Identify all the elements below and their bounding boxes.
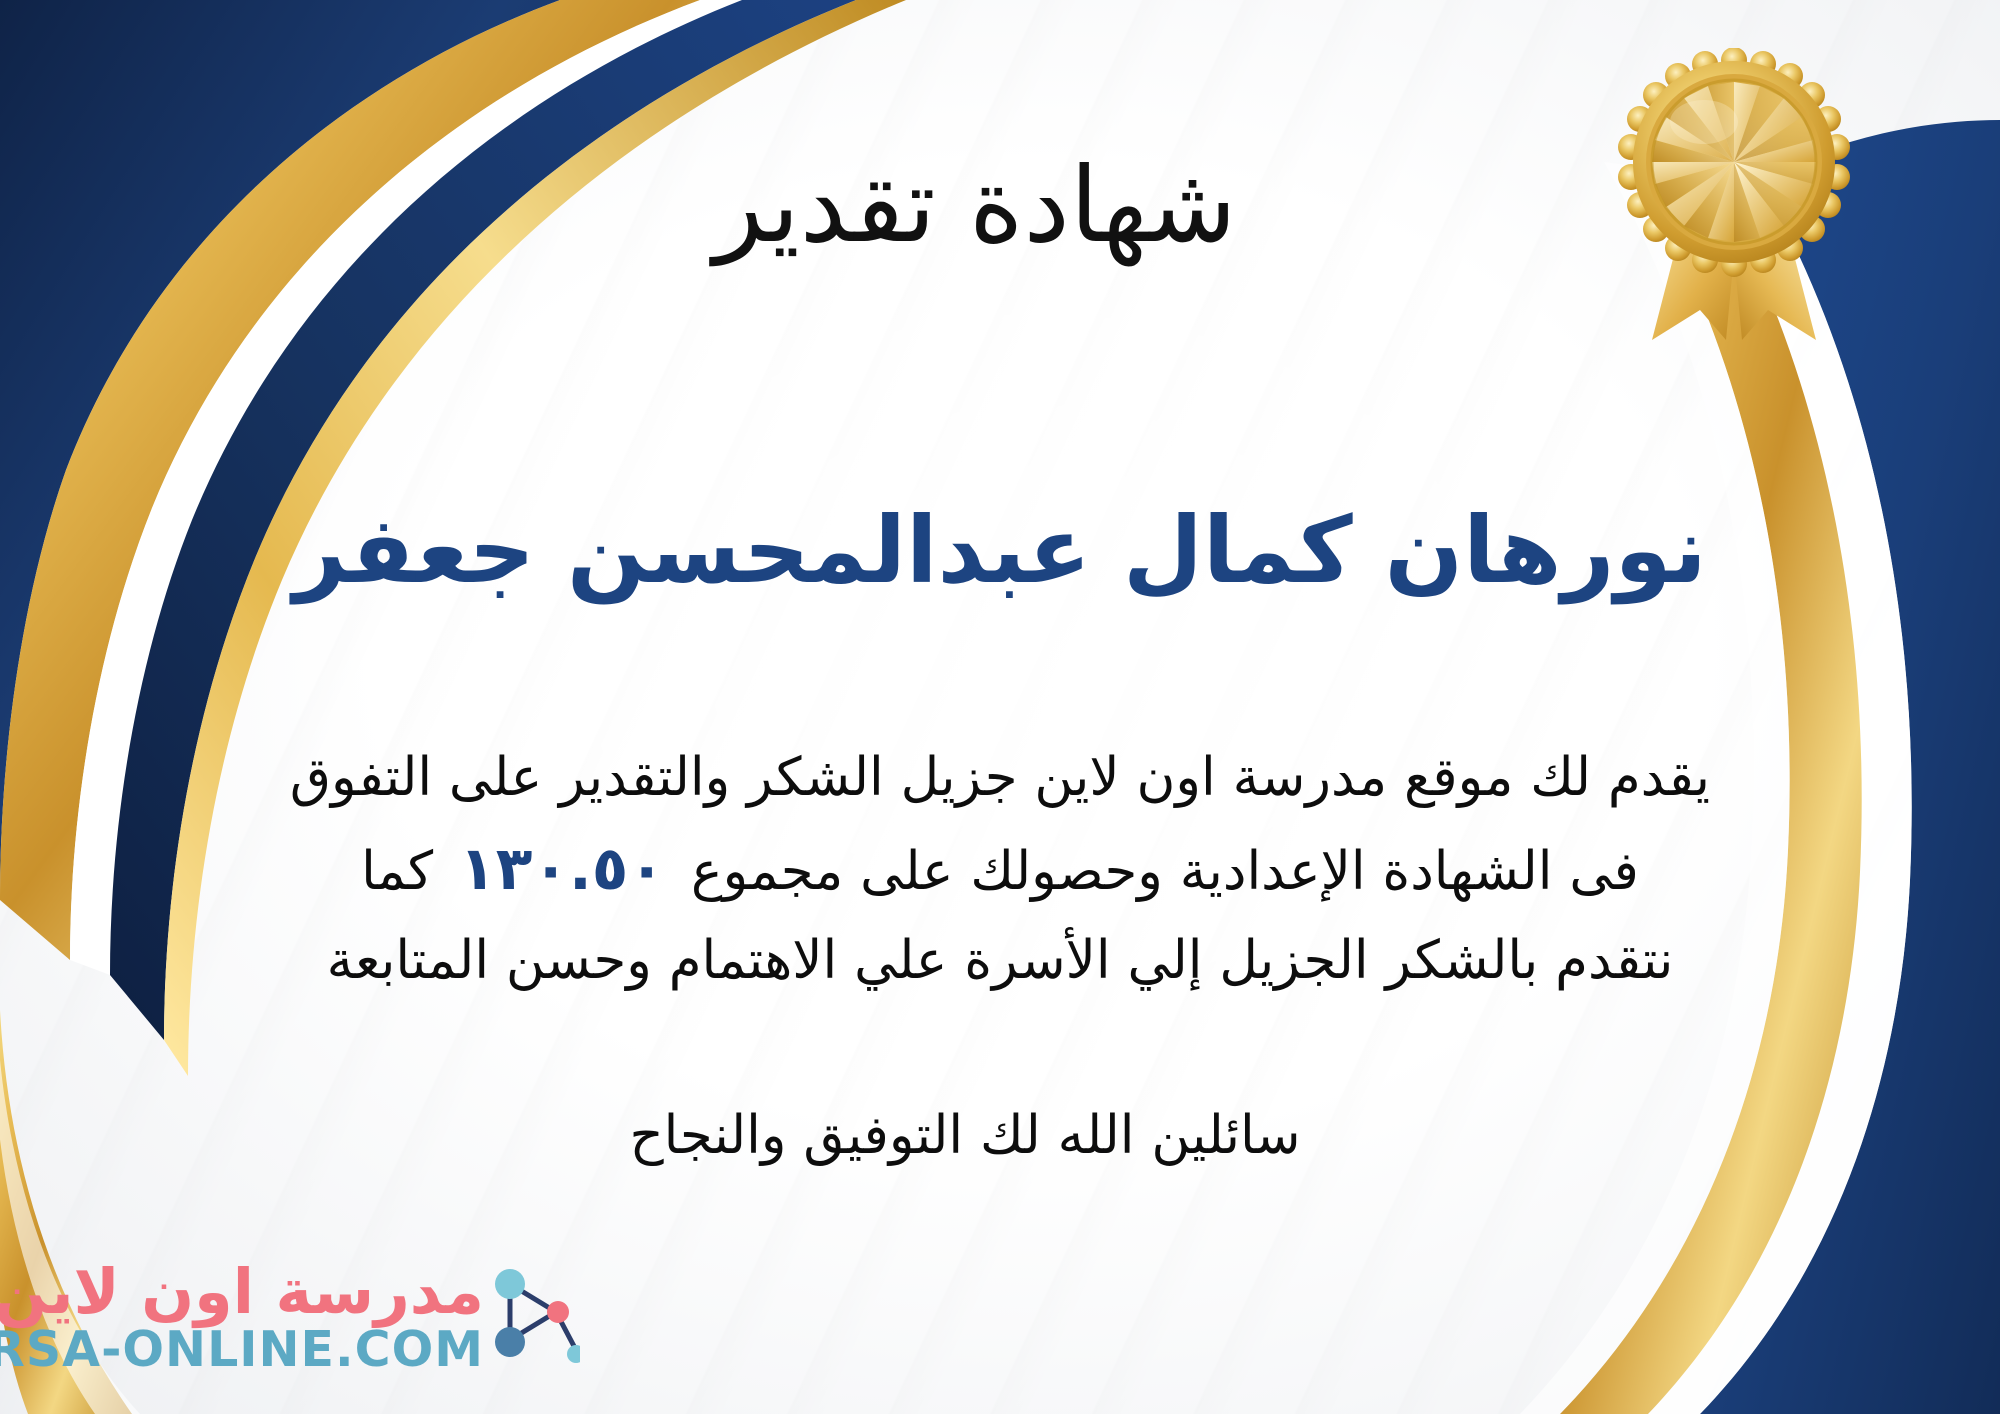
network-nodes-icon (484, 1254, 580, 1372)
closing-line: سائلين الله لك التوفيق والنجاح (0, 1105, 1930, 1166)
body-line-1: يقدم لك موقع مدرسة اون لاين جزيل الشكر و… (55, 735, 1945, 821)
body-line-2-suffix: كما (361, 841, 433, 902)
logo-url-text: MADRSA-ONLINE.COM (0, 1323, 484, 1378)
body-line-3: نتقدم بالشكر الجزيل إلي الأسرة علي الاهت… (55, 918, 1945, 1004)
logo-arabic-text: مدرسة اون لاين (0, 1261, 484, 1323)
certificate-body: يقدم لك موقع مدرسة اون لاين جزيل الشكر و… (55, 735, 1945, 1004)
body-line-2: فى الشهادة الإعدادية وحصولك على مجموع١٣٠… (55, 821, 1945, 918)
recipient-name: نورهان كمال عبدالمحسن جعفر (0, 498, 2000, 604)
body-line-2-prefix: فى الشهادة الإعدادية وحصولك على مجموع (691, 841, 1639, 902)
certificate-page: شهادة تقدير نورهان كمال عبدالمحسن جعفر ي… (0, 0, 2000, 1414)
brand-logo[interactable]: مدرسة اون لاين MADRSA-ONLINE.COM (26, 1228, 586, 1378)
certificate-content: شهادة تقدير نورهان كمال عبدالمحسن جعفر ي… (0, 0, 2000, 1414)
grade-value: ١٣٠.٥٠ (433, 834, 691, 904)
page-title: شهادة تقدير (0, 148, 1950, 262)
